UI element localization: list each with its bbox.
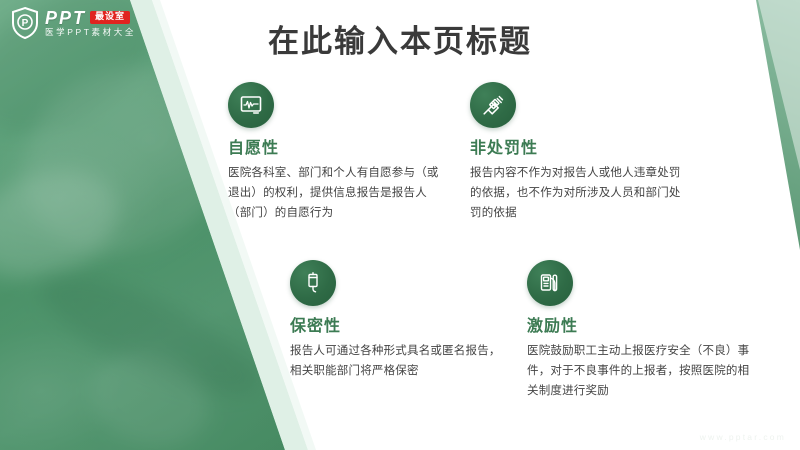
shield-letter: P (22, 18, 29, 29)
ecg-monitor-icon (228, 82, 274, 128)
brand-logo[interactable]: P PPT 最设室 医学PPT素材大全 (10, 6, 136, 40)
feature-description: 医院鼓励职工主动上报医疗安全（不良）事件，对于不良事件的上报者，按照医院的相关制… (527, 342, 759, 401)
feature-description: 报告内容不作为对报告人或他人违章处罚的依据，也不作为对所涉及人员和部门处罚的依据 (470, 164, 685, 223)
feature-title: 保密性 (290, 317, 505, 336)
brand-badge: 最设室 (90, 11, 130, 24)
slide-canvas: P PPT 最设室 医学PPT素材大全 在此输入本页标题 自愿性 医院各科室、部… (0, 0, 800, 450)
syringe-icon (470, 82, 516, 128)
feature-block-voluntary: 自愿性 医院各科室、部门和个人有自愿参与（或退出）的权利，提供信息报告是报告人（… (228, 82, 443, 223)
brand-text-column: PPT 最设室 医学PPT素材大全 (45, 9, 136, 37)
feature-description: 报告人可通过各种形式具名或匿名报告，相关职能部门将严格保密 (290, 342, 505, 382)
brand-top-row: PPT 最设室 (45, 9, 136, 27)
feature-title: 自愿性 (228, 139, 443, 158)
brand-subtitle: 医学PPT素材大全 (45, 28, 136, 37)
feature-description: 医院各科室、部门和个人有自愿参与（或退出）的权利，提供信息报告是报告人（部门）的… (228, 164, 443, 223)
background-photo-panel (0, 0, 300, 450)
feature-block-non-punitive: 非处罚性 报告内容不作为对报告人或他人违章处罚的依据，也不作为对所涉及人员和部门… (470, 82, 685, 223)
site-watermark: www.pptar.com (700, 432, 786, 442)
shield-icon: P (10, 6, 40, 40)
feature-title: 激励性 (527, 317, 759, 336)
feature-title: 非处罚性 (470, 139, 685, 158)
photo-green-tint-overlay (0, 0, 300, 450)
feature-block-incentive: 激励性 医院鼓励职工主动上报医疗安全（不良）事件，对于不良事件的上报者，按照医院… (527, 260, 759, 401)
brand-name: PPT (45, 9, 86, 27)
iv-drip-icon (290, 260, 336, 306)
feature-block-confidential: 保密性 报告人可通过各种形式具名或匿名报告，相关职能部门将严格保密 (290, 260, 505, 382)
blood-pressure-monitor-icon (527, 260, 573, 306)
